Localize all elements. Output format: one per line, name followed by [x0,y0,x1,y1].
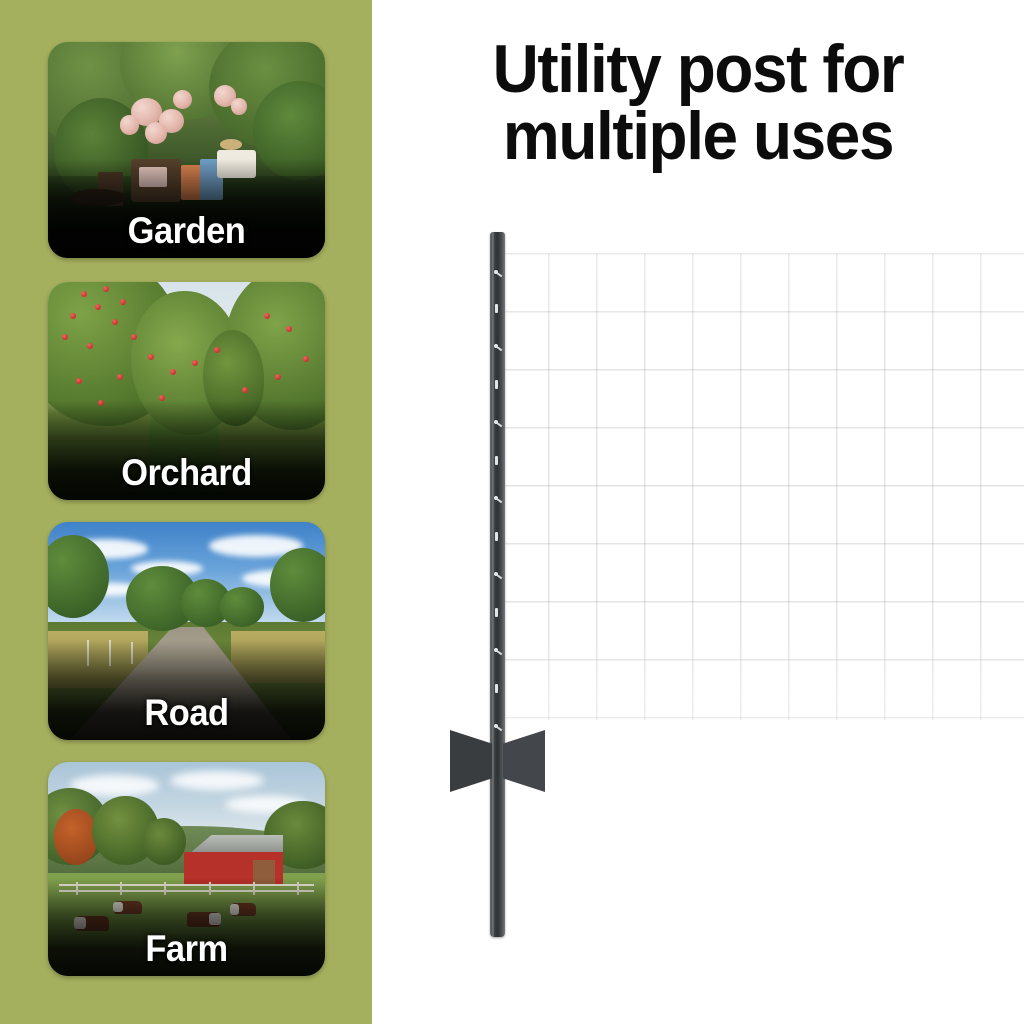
use-case-sidebar: Garden [0,0,372,1024]
foot-plate-left-wing [450,730,492,792]
wire-notch-icon [494,494,502,502]
post-slot-icon [495,456,498,465]
post-slot-icon [495,304,498,313]
title-line-1: Utility post for [493,31,904,107]
use-case-card-road[interactable]: Road [48,522,325,740]
post-slot-icon [495,608,498,617]
page-title: Utility post for multiple uses [392,36,1005,169]
post-highlight [492,232,494,937]
metal-post [490,232,505,937]
use-case-card-garden[interactable]: Garden [48,42,325,258]
product-marketing-image: Garden [0,0,1024,1024]
foot-plate-right-wing [503,730,545,792]
product-panel: Utility post for multiple uses [372,0,1024,1024]
post-slot-icon [495,380,498,389]
use-case-card-label: Road [58,692,316,734]
wire-mesh-fade [500,253,1024,720]
use-case-card-label: Garden [58,210,316,252]
wire-notch-icon [494,418,502,426]
use-case-card-farm[interactable]: Farm [48,762,325,976]
post-slot-icon [495,684,498,693]
post-slot-icon [495,532,498,541]
wire-notch-icon [494,570,502,578]
use-case-card-label: Orchard [58,452,316,494]
wire-notch-icon [494,646,502,654]
wire-notch-icon [494,722,502,730]
use-case-card-label: Farm [58,928,316,970]
use-case-card-orchard[interactable]: Orchard [48,282,325,500]
title-line-2: multiple uses [392,103,1005,170]
wire-notch-icon [494,268,502,276]
wire-notch-icon [494,342,502,350]
foot-step-plate [450,730,545,792]
